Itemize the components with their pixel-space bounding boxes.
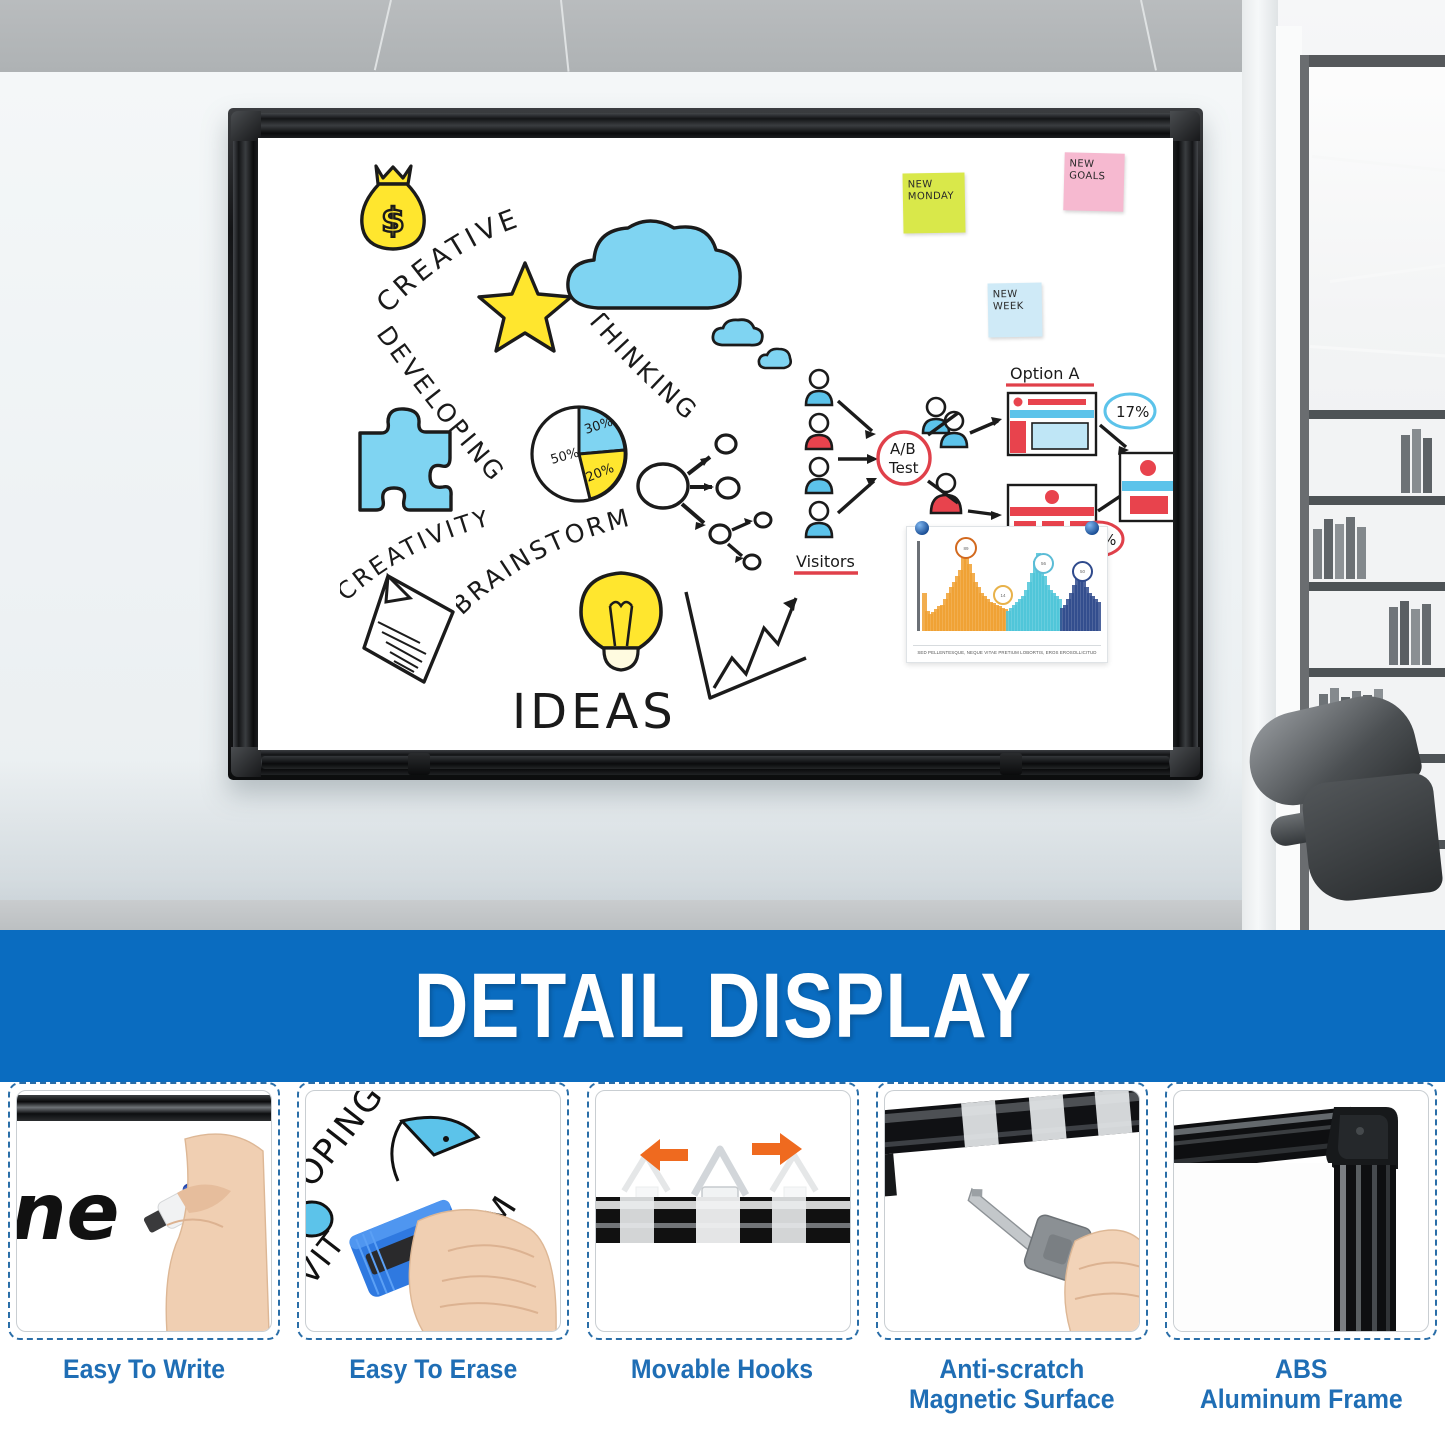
- frame-right-bar: [1172, 114, 1198, 774]
- whiteboard: $ CREATIVE: [228, 108, 1203, 780]
- feature-card-easy-to-erase[interactable]: OPING VIT M: [297, 1082, 569, 1441]
- idea-flow-circles-doodle: [636, 424, 796, 584]
- card-photo-easy-to-write: ne Eras: [16, 1090, 272, 1332]
- frame-rail: [17, 1095, 272, 1121]
- tray-clip-left: [408, 753, 430, 775]
- visitors-label: Visitors: [796, 552, 855, 571]
- frame-vertical-bar: [1334, 1165, 1396, 1332]
- bar-chart-poster[interactable]: 89 14 56 50 SED PELLENTESQUE, NEQUE VITA…: [906, 526, 1108, 663]
- product-scene-photo: $ CREATIVE: [0, 0, 1445, 930]
- sticky-note-new-goals[interactable]: NEW GOALS: [1063, 152, 1124, 212]
- sticky-note-line-2: MONDAY: [908, 191, 960, 204]
- lightbulb-doodle: [573, 568, 669, 690]
- poster-bubble-14: 14: [993, 585, 1013, 605]
- card-photo-anti-scratch: [884, 1090, 1140, 1332]
- sticky-note-line-2: GOALS: [1069, 170, 1119, 183]
- word-ideas: IDEAS: [508, 676, 708, 746]
- poster-bubble-50: 50: [1072, 561, 1093, 582]
- tray-clip-right: [1000, 753, 1022, 775]
- banner-title: DETAIL DISPLAY: [414, 960, 1032, 1052]
- card-photo-movable-hooks: [595, 1090, 851, 1332]
- ab-test-label-line2: Test: [888, 459, 919, 477]
- sticky-note-line-1: NEW: [908, 179, 960, 192]
- feature-cards-row: ne Eras: [0, 1082, 1445, 1441]
- frame-corner-top-right: [1170, 111, 1200, 141]
- card-image-frame: [1165, 1082, 1437, 1340]
- hand-shape: [1065, 1230, 1140, 1332]
- ab-test-label-line1: A/B: [890, 440, 916, 458]
- winner-mockup: [1120, 453, 1173, 521]
- sticky-note-line-1: NEW: [993, 289, 1037, 302]
- sticky-note-new-monday[interactable]: NEW MONDAY: [902, 172, 965, 233]
- hand-shape: [410, 1210, 557, 1332]
- whiteboard-surface[interactable]: $ CREATIVE: [258, 138, 1173, 750]
- office-background: [1242, 0, 1445, 930]
- office-chair: [1242, 700, 1440, 930]
- puzzle-piece-doodle: [350, 406, 462, 516]
- card-image-frame: [587, 1082, 859, 1340]
- card-label: Anti-scratch Magnetic Surface: [909, 1354, 1115, 1414]
- card-label: ABS Aluminum Frame: [1200, 1354, 1403, 1414]
- document-doodle: [358, 570, 462, 690]
- option-a-label: Option A: [1010, 364, 1079, 383]
- poster-chart-axis: [917, 541, 920, 631]
- frame-corner-cap: [1326, 1107, 1398, 1169]
- card-label: Movable Hooks: [631, 1354, 813, 1384]
- card-label: Easy To Erase: [349, 1354, 517, 1384]
- card-photo-easy-to-erase: OPING VIT M: [305, 1090, 561, 1332]
- pie-chart-doodle: 50% 30% 20%: [524, 400, 634, 508]
- card-label: Easy To Write: [63, 1354, 225, 1384]
- ceiling-tiles: [0, 0, 1445, 72]
- poster-bar-chart: [922, 541, 1097, 631]
- feature-card-anti-scratch[interactable]: Anti-scratch Magnetic Surface: [876, 1082, 1148, 1441]
- cloud-doodle: [558, 208, 748, 328]
- magnet-left[interactable]: [915, 521, 929, 535]
- card-image-frame: [876, 1082, 1148, 1340]
- option-a-rate: 17%: [1116, 403, 1149, 421]
- feature-card-easy-to-write[interactable]: ne Eras: [8, 1082, 280, 1441]
- frame-left-bar: [233, 114, 259, 774]
- whiteboard-top-rail: [885, 1091, 1140, 1197]
- hand-shape: [166, 1134, 269, 1332]
- frame-corner-top-left: [231, 111, 261, 141]
- card-image-frame: OPING VIT M: [297, 1082, 569, 1340]
- frame-corner-bottom-right: [1170, 747, 1200, 777]
- frame-top-bar: [234, 113, 1197, 139]
- wall-baseboard: [0, 900, 1445, 930]
- poster-bubble-56: 56: [1033, 553, 1054, 574]
- arrow-left-icon: [640, 1139, 688, 1171]
- feature-card-abs-aluminum-frame[interactable]: ABS Aluminum Frame: [1165, 1082, 1437, 1441]
- written-text: ne: [17, 1168, 119, 1258]
- svg-text:IDEAS: IDEAS: [512, 684, 677, 740]
- sticky-note-line-2: WEEK: [993, 301, 1037, 314]
- frame-corner-bottom-left: [231, 747, 261, 777]
- rail-bar: [596, 1197, 851, 1243]
- option-a-mockup: [1008, 393, 1096, 455]
- poster-caption: SED PELLENTESQUE, NEQUE VITAE PRETIUM LO…: [913, 650, 1101, 655]
- sticky-note-new-week[interactable]: NEW WEEK: [988, 283, 1043, 338]
- card-photo-frame-corner: [1173, 1090, 1429, 1332]
- marker-tray: [262, 756, 1169, 769]
- detail-display-banner: DETAIL DISPLAY: [0, 930, 1445, 1082]
- card-image-frame: ne Eras: [8, 1082, 280, 1340]
- poster-bubble-89: 89: [955, 537, 977, 559]
- poster-bar: [1096, 602, 1101, 631]
- board-text-oping: OPING: [306, 1091, 392, 1195]
- feature-card-movable-hooks[interactable]: Movable Hooks: [587, 1082, 859, 1441]
- magnet-right[interactable]: [1085, 521, 1099, 535]
